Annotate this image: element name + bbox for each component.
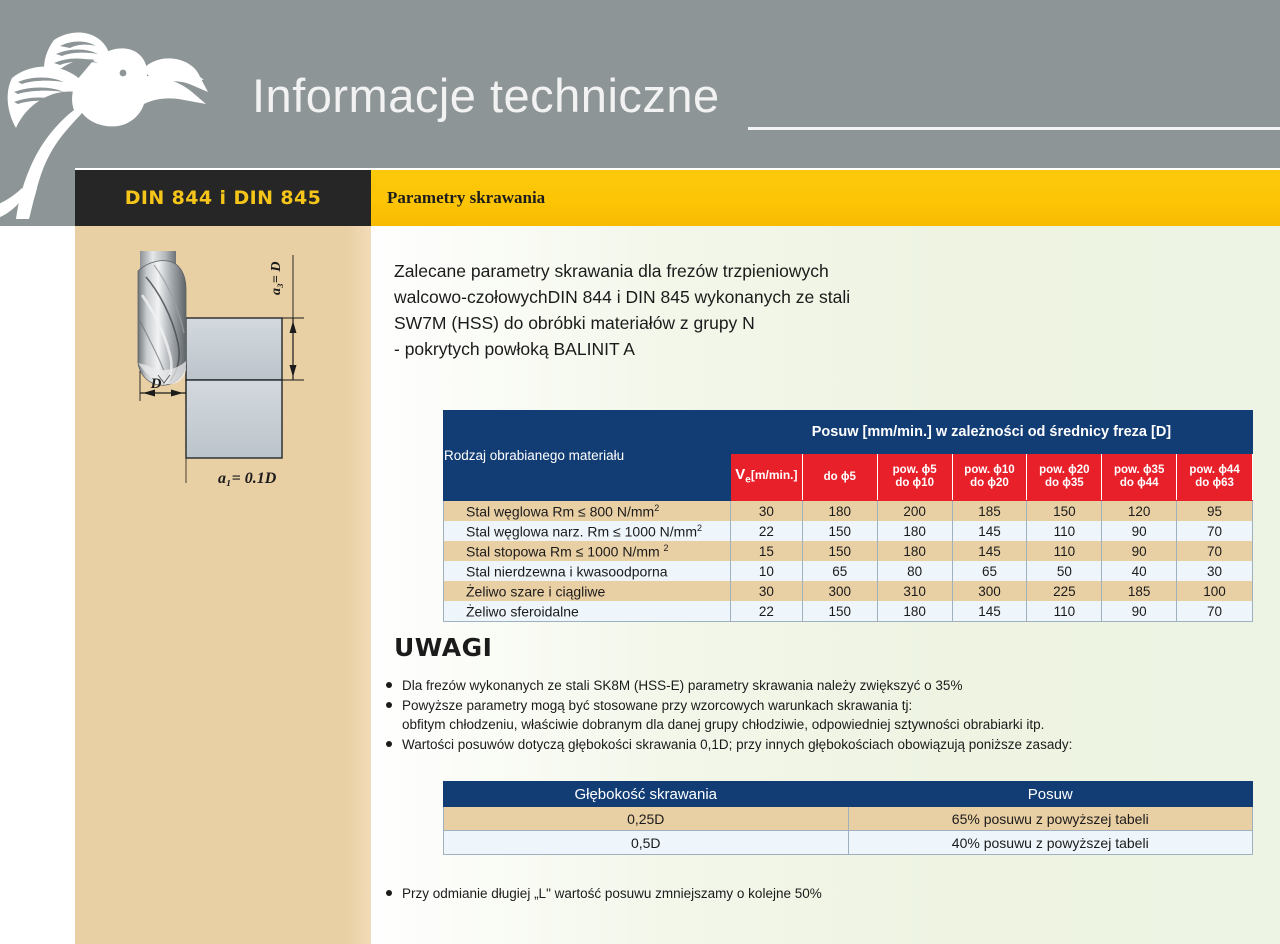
diameter-header-5-bottom: do ϕ63 [1177,477,1252,490]
vc-unit: [m/min.] [751,468,798,482]
feed-value: 65 [952,561,1027,581]
bullet-icon [386,890,392,896]
vc-symbol: V [735,466,745,483]
diameter-header-5: pow. ϕ44 do ϕ63 [1177,454,1253,501]
main-table-body: Stal węglowa Rm ≤ 800 N/mm2 30 180 200 1… [444,501,1253,622]
diameter-header-3-bottom: do ϕ35 [1027,477,1101,490]
vc-value: 30 [730,501,802,522]
feed-span-header: Posuw [mm/min.] w zależności od średnicy… [730,411,1252,454]
feed-value: 110 [1027,521,1102,541]
bullet-icon [386,682,392,688]
feed-value: 180 [877,601,952,622]
diameter-header-2-top: pow. ϕ10 [953,464,1027,477]
diameter-header-4: pow. ϕ35 do ϕ44 [1102,454,1177,501]
feed-value: 70 [1177,521,1253,541]
table-row: Żeliwo szare i ciągliwe 30 300 310 300 2… [444,581,1253,601]
note-item: Przy odmianie długiej „L" wartość posuwu… [380,884,1260,903]
note-item: Powyższe parametry mogą być stosowane pr… [380,696,1260,734]
feed-value: 185 [1102,581,1177,601]
feed-value: 40 [1102,561,1177,581]
depth-feed-table: Głębokość skrawania Posuw 0,25D 65% posu… [443,781,1253,855]
final-note: Przy odmianie długiej „L" wartość posuwu… [380,884,1260,904]
vc-value: 10 [730,561,802,581]
note-text: Powyższe parametry mogą być stosowane pr… [402,698,912,713]
table-row: Stal nierdzewna i kwasoodporna 10 65 80 … [444,561,1253,581]
feed-value: 110 [1027,601,1102,622]
feed-value: 70 [1177,601,1253,622]
vc-value: 22 [730,521,802,541]
diameter-header-1-bottom: do ϕ10 [878,477,952,490]
depth-value: 0,5D [444,831,849,855]
material-column-header: Rodzaj obrabianego materiału [444,411,731,501]
material-name: Stal nierdzewna i kwasoodporna [444,561,731,581]
page-title: Informacje techniczne [252,72,720,119]
vc-column-header: Ve[m/min.] [730,454,802,501]
feed-value: 70 [1177,541,1253,561]
note-text: Wartości posuwów dotyczą głębokości skra… [402,737,1072,752]
depth-value: 0,25D [444,807,849,831]
feed-value: 65 [802,561,877,581]
feed-value: 300 [952,581,1027,601]
table-row: Stal stopowa Rm ≤ 1000 N/mm 2 15 150 180… [444,541,1253,561]
material-name: Stal węglowa Rm ≤ 800 N/mm2 [444,501,731,522]
bullet-icon [386,702,392,708]
vc-value: 15 [730,541,802,561]
feed-value: 80 [877,561,952,581]
section-tab-label: Parametry skrawania [387,170,545,226]
diameter-header-5-top: pow. ϕ44 [1177,464,1252,477]
material-name: Stal stopowa Rm ≤ 1000 N/mm 2 [444,541,731,561]
feed-value: 300 [802,581,877,601]
feed-column-header: Posuw [848,782,1253,807]
feed-value: 180 [802,501,877,522]
title-rule [748,127,1280,130]
diameter-header-4-top: pow. ϕ35 [1102,464,1176,477]
notes-title: UWAGI [394,633,492,662]
feed-value: 90 [1102,521,1177,541]
notes-list: Dla frezów wykonanych ze stali SK8M (HSS… [380,676,1260,755]
table-row: Stal węglowa narz. Rm ≤ 1000 N/mm2 22 15… [444,521,1253,541]
feed-value: 145 [952,601,1027,622]
standard-tab-label: DIN 844 i DIN 845 [75,170,371,226]
section-tab[interactable]: Parametry skrawania [371,170,1280,226]
feed-value: 200 [877,501,952,522]
feed-value: 110 [1027,541,1102,561]
intro-paragraph: Zalecane parametry skrawania dla frezów … [394,258,1014,362]
vc-value: 30 [730,581,802,601]
intro-line-4: - pokrytych powłoką BALINIT A [394,336,1014,362]
diameter-header-3-top: pow. ϕ20 [1027,464,1101,477]
feed-rule: 40% posuwu z powyższej tabeli [848,831,1253,855]
material-name: Żeliwo szare i ciągliwe [444,581,731,601]
material-name: Stal węglowa narz. Rm ≤ 1000 N/mm2 [444,521,731,541]
diameter-header-4-bottom: do ϕ44 [1102,477,1176,490]
feed-value: 150 [802,601,877,622]
note-text: Dla frezów wykonanych ze stali SK8M (HSS… [402,678,962,693]
note-text: Przy odmianie długiej „L" wartość posuwu… [402,886,822,901]
end-mill-diagram: a₃= D D a₁= 0.1D [128,243,378,493]
feed-value: 150 [802,541,877,561]
feed-value: 95 [1177,501,1253,522]
table-row: Stal węglowa Rm ≤ 800 N/mm2 30 180 200 1… [444,501,1253,522]
diameter-label: D [150,376,162,392]
feed-value: 225 [1027,581,1102,601]
table-row: Żeliwo sferoidalne 22 150 180 145 110 90… [444,601,1253,622]
intro-line-3: SW7M (HSS) do obróbki materiałów z grupy… [394,310,1014,336]
feed-value: 50 [1027,561,1102,581]
cutting-parameters-table: Rodzaj obrabianego materiału Posuw [mm/m… [443,410,1253,622]
feed-value: 150 [1027,501,1102,522]
vc-value: 22 [730,601,802,622]
intro-line-2: walcowo-czołowychDIN 844 i DIN 845 wykon… [394,284,1014,310]
feed-value: 120 [1102,501,1177,522]
feed-value: 145 [952,521,1027,541]
note-item: Wartości posuwów dotyczą głębokości skra… [380,735,1260,754]
table-row: 0,25D 65% posuwu z powyższej tabeli [444,807,1253,831]
diameter-header-1: pow. ϕ5 do ϕ10 [877,454,952,501]
feed-value: 185 [952,501,1027,522]
feed-value: 90 [1102,601,1177,622]
material-name: Żeliwo sferoidalne [444,601,731,622]
intro-line-1: Zalecane parametry skrawania dla frezów … [394,258,1014,284]
note-continuation: obfitym chłodzeniu, właściwie dobranym d… [402,715,1260,734]
note-item: Dla frezów wykonanych ze stali SK8M (HSS… [380,676,1260,695]
feed-value: 145 [952,541,1027,561]
feed-value: 180 [877,541,952,561]
standard-tab[interactable]: DIN 844 i DIN 845 [75,170,371,226]
table-row: 0,5D 40% posuwu z powyższej tabeli [444,831,1253,855]
diameter-header-3: pow. ϕ20 do ϕ35 [1027,454,1102,501]
depth-label: a₃= D [269,262,284,295]
feed-value: 180 [877,521,952,541]
top-banner: Informacje techniczne [0,0,1280,168]
feed-label: a₁= 0.1D [218,470,277,487]
feed-value: 150 [802,521,877,541]
diameter-header-2: pow. ϕ10 do ϕ20 [952,454,1027,501]
diameter-header-2-bottom: do ϕ20 [953,477,1027,490]
diameter-header-0: do ϕ5 [802,454,877,501]
bullet-icon [386,741,392,747]
diameter-header-1-top: pow. ϕ5 [878,464,952,477]
feed-value: 30 [1177,561,1253,581]
depth-column-header: Głębokość skrawania [444,782,849,807]
logo-panel [0,0,75,228]
feed-rule: 65% posuwu z powyższej tabeli [848,807,1253,831]
feed-value: 90 [1102,541,1177,561]
feed-value: 100 [1177,581,1253,601]
diameter-header-0-bottom: do ϕ5 [824,471,856,483]
feed-value: 310 [877,581,952,601]
page-root: Informacje techniczne [0,0,1280,944]
